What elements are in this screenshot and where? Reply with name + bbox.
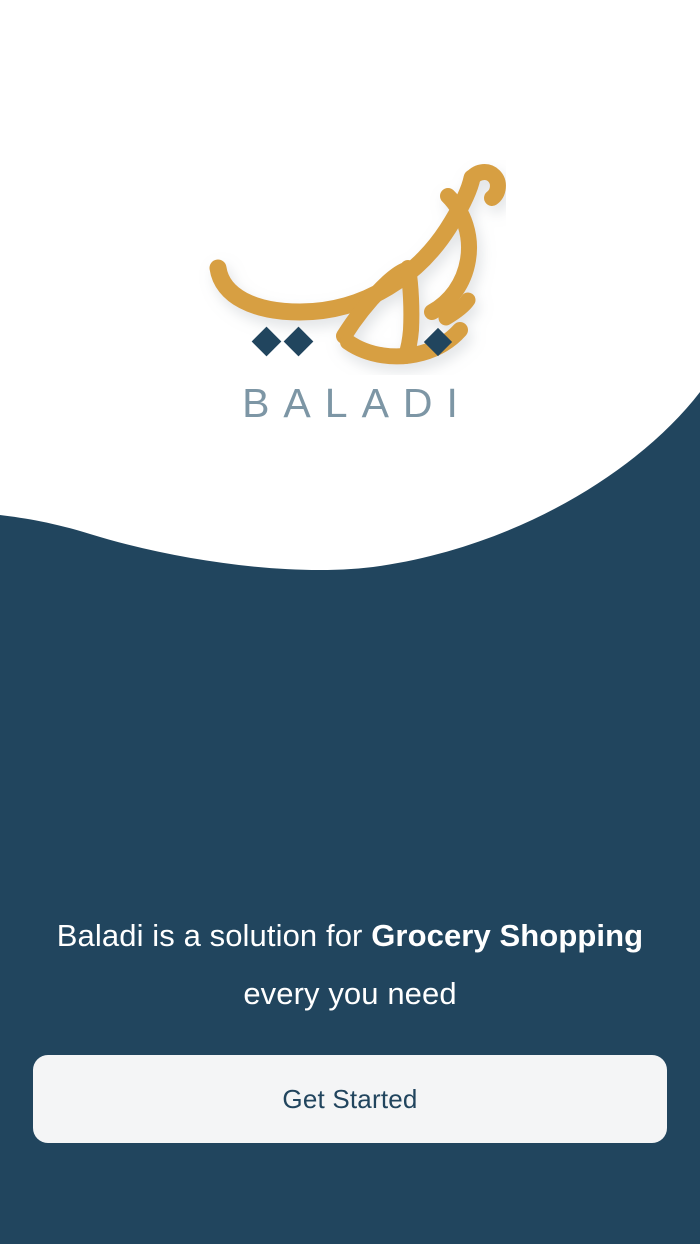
tagline-part-1: Baladi is a solution for [57, 918, 371, 953]
tagline-part-2: every you need [243, 976, 456, 1011]
onboarding-tagline: Baladi is a solution for Grocery Shoppin… [36, 907, 664, 1023]
brand-logo-block: BALADI [0, 0, 700, 520]
get-started-button[interactable]: Get Started [33, 1055, 667, 1143]
onboarding-screen: BALADI Baladi is a solution for Grocery … [0, 0, 700, 1244]
onboarding-bottom-content: Baladi is a solution for Grocery Shoppin… [0, 784, 700, 1244]
tagline-emphasis: Grocery Shopping [371, 918, 643, 953]
baladi-wordmark: BALADI [0, 383, 700, 424]
baladi-arabic-calligraphy-logo-icon [196, 160, 506, 375]
